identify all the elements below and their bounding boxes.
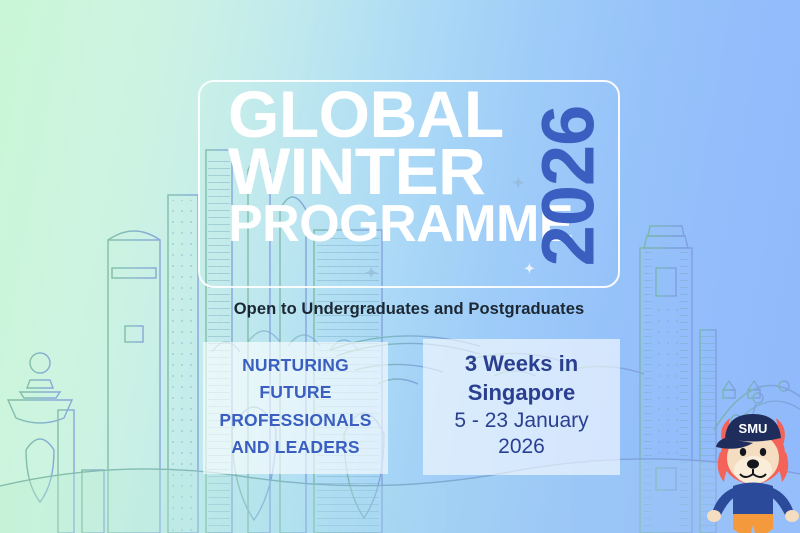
mascot-cap-text: SMU [739,421,768,436]
year-badge: 2026 [520,88,616,284]
title-line-programme: PROGRAMME [228,202,536,247]
duration-panel: 3 Weeks in Singapore 5 - 23 January 2026 [423,339,620,475]
smu-lion-mascot: SMU [706,404,800,533]
dates-line-2: 2026 [423,434,620,461]
tagline-line-1: NURTURING [203,352,388,379]
title-line-winter: WINTER [228,143,536,200]
foreground-band [0,459,800,533]
mascot-shirt [713,483,793,517]
subtitle-text: Open to Undergraduates and Postgraduates [198,300,620,319]
observation-tower [8,353,72,533]
program-title: GLOBAL WINTER PROGRAMME [226,86,536,246]
promotional-banner: GLOBAL WINTER PROGRAMME 2026 ✦ ✦ ✦ Open … [0,0,800,533]
sparkle-icon: ✦ [365,266,378,281]
tagline-line-4: AND LEADERS [203,434,388,461]
sparkle-icon: ✦ [512,176,525,191]
tagline-panel: NURTURING FUTURE PROFESSIONALS AND LEADE… [203,342,388,474]
year-text: 2026 [526,106,611,267]
right-tall-tower [640,226,692,533]
dotted-tower-left [168,195,198,533]
sparkle-icon: ✦ [524,262,535,275]
dates-line-1: 5 - 23 January [423,408,620,435]
tagline-line-3: PROFESSIONALS [203,407,388,434]
left-tower-cluster [58,231,160,533]
tagline-line-2: FUTURE [203,379,388,406]
duration-line-2: Singapore [423,378,620,407]
mascot-shorts [733,514,773,533]
duration-line-1: 3 Weeks in [423,349,620,378]
